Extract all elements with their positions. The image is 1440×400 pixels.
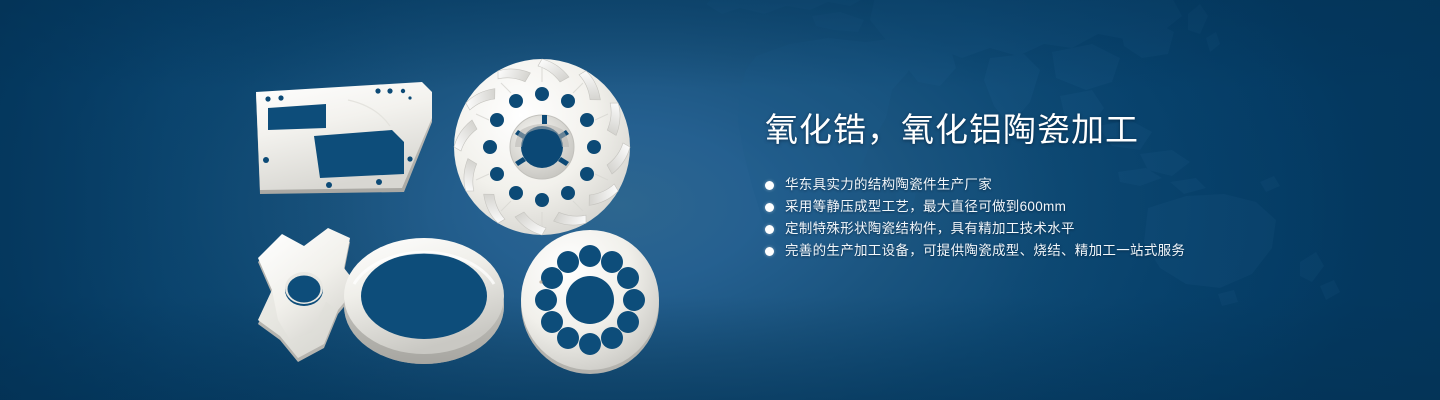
list-item: 华东具实力的结构陶瓷件生产厂家 xyxy=(765,174,1385,196)
bullet-dot-icon xyxy=(765,247,774,256)
hero-banner: 氧化锆，氧化铝陶瓷加工 华东具实力的结构陶瓷件生产厂家 采用等静压成型工艺，最大… xyxy=(0,0,1440,400)
ceramic-ring-part xyxy=(338,226,510,370)
bullet-dot-icon xyxy=(765,203,774,212)
ceramic-hole-disc-part xyxy=(519,224,661,376)
list-item: 采用等静压成型工艺，最大直径可做到600mm xyxy=(765,196,1385,218)
marketing-copy: 氧化锆，氧化铝陶瓷加工 华东具实力的结构陶瓷件生产厂家 采用等静压成型工艺，最大… xyxy=(765,108,1385,262)
feature-text: 定制特殊形状陶瓷结构件，具有精加工技术水平 xyxy=(785,218,1075,240)
list-item: 完善的生产加工设备，可提供陶瓷成型、烧结、精加工一站式服务 xyxy=(765,240,1385,262)
bullet-dot-icon xyxy=(765,225,774,234)
page-title: 氧化锆，氧化铝陶瓷加工 xyxy=(765,108,1385,152)
list-item: 定制特殊形状陶瓷结构件，具有精加工技术水平 xyxy=(765,218,1385,240)
feature-list: 华东具实力的结构陶瓷件生产厂家 采用等静压成型工艺，最大直径可做到600mm 定… xyxy=(765,174,1385,262)
feature-text: 完善的生产加工设备，可提供陶瓷成型、烧结、精加工一站式服务 xyxy=(785,240,1185,262)
feature-text: 华东具实力的结构陶瓷件生产厂家 xyxy=(785,174,992,196)
bullet-dot-icon xyxy=(765,181,774,190)
ceramic-impeller-part xyxy=(449,52,635,238)
ceramic-plate-part xyxy=(252,82,434,198)
feature-text: 采用等静压成型工艺，最大直径可做到600mm xyxy=(785,196,1066,218)
